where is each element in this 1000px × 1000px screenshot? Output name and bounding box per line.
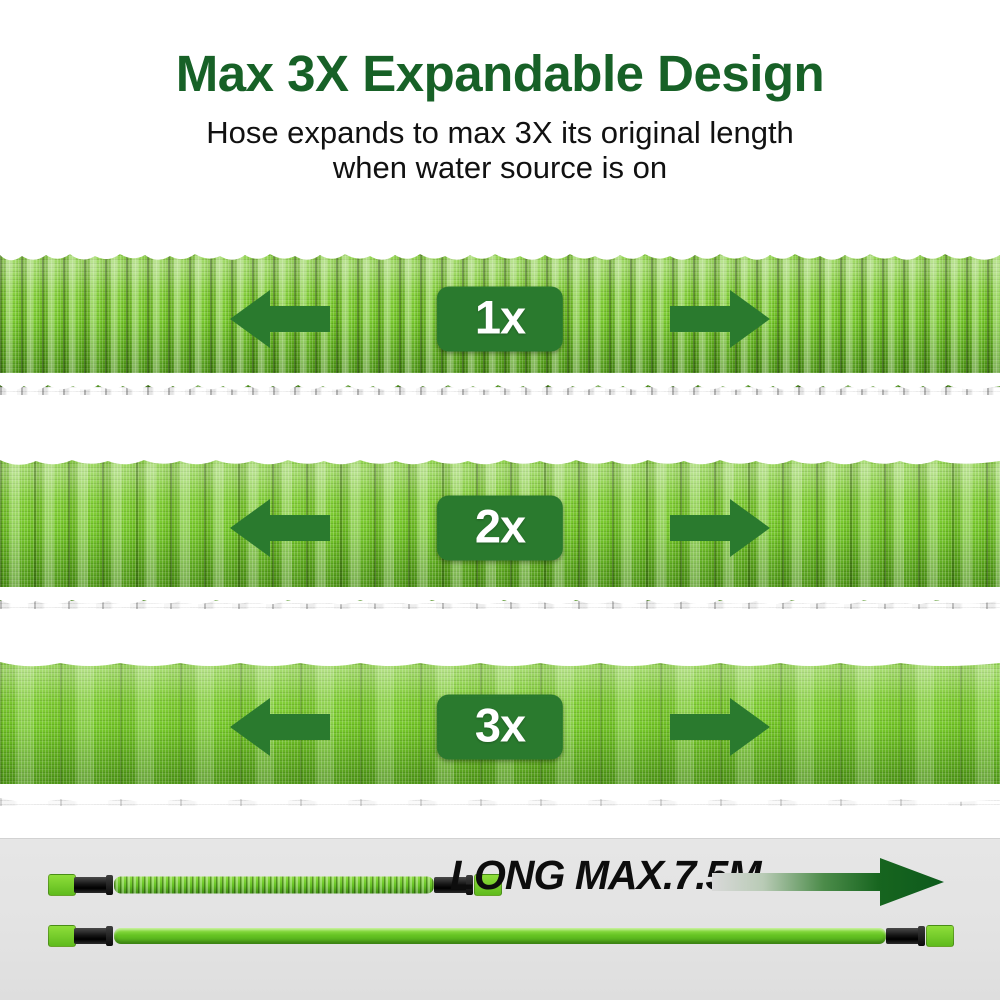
hose-stage-1x: 1x [0,243,1000,395]
hose-connector-left [74,877,108,893]
hose-stage-3x: 3x [0,648,1000,806]
page-title: Max 3X Expandable Design [0,48,1000,99]
compact-hose-illustration [48,871,508,899]
hose-end-cap-left [48,874,76,896]
arrow-right-icon [670,696,770,758]
multiplier-badge-2x: 2x [437,496,563,561]
hose-end-cap-left [48,925,76,947]
arrow-right-icon [670,288,770,350]
hose-bottom-edge [0,784,1000,806]
hose-connector-left [74,928,108,944]
hose-connector-right [886,928,920,944]
panel-divider [0,838,1000,839]
arrow-right-icon [670,497,770,559]
hose-top-edge [0,447,1000,469]
arrow-left-icon [230,696,330,758]
multiplier-badge-label: 1x [475,294,525,341]
hose-top-edge [0,648,1000,670]
hose-bottom-edge [0,587,1000,609]
infographic-page: Max 3X Expandable Design Hose expands to… [0,0,1000,1000]
header: Max 3X Expandable Design Hose expands to… [0,0,1000,210]
page-subtitle: Hose expands to max 3X its original leng… [0,116,1000,185]
subtitle-line-2: when water source is on [0,151,1000,186]
length-comparison-panel: LONG MAX.7.5M [0,838,1000,1000]
subtitle-line-1: Hose expands to max 3X its original leng… [206,115,794,150]
hose-top-edge [0,243,1000,265]
multiplier-badge-label: 2x [475,503,525,550]
hose-bottom-edge [0,373,1000,395]
multiplier-badge-1x: 1x [437,287,563,352]
long-hose-tube [114,928,886,944]
compact-hose-tube [114,877,434,894]
multiplier-badge-3x: 3x [437,695,563,760]
arrow-left-icon [230,497,330,559]
multiplier-badge-label: 3x [475,702,525,749]
hose-end-cap-right [926,925,954,947]
long-hose-illustration [48,923,958,949]
arrow-left-icon [230,288,330,350]
hose-stage-2x: 2x [0,447,1000,609]
gradient-arrow-right-icon [712,856,944,908]
